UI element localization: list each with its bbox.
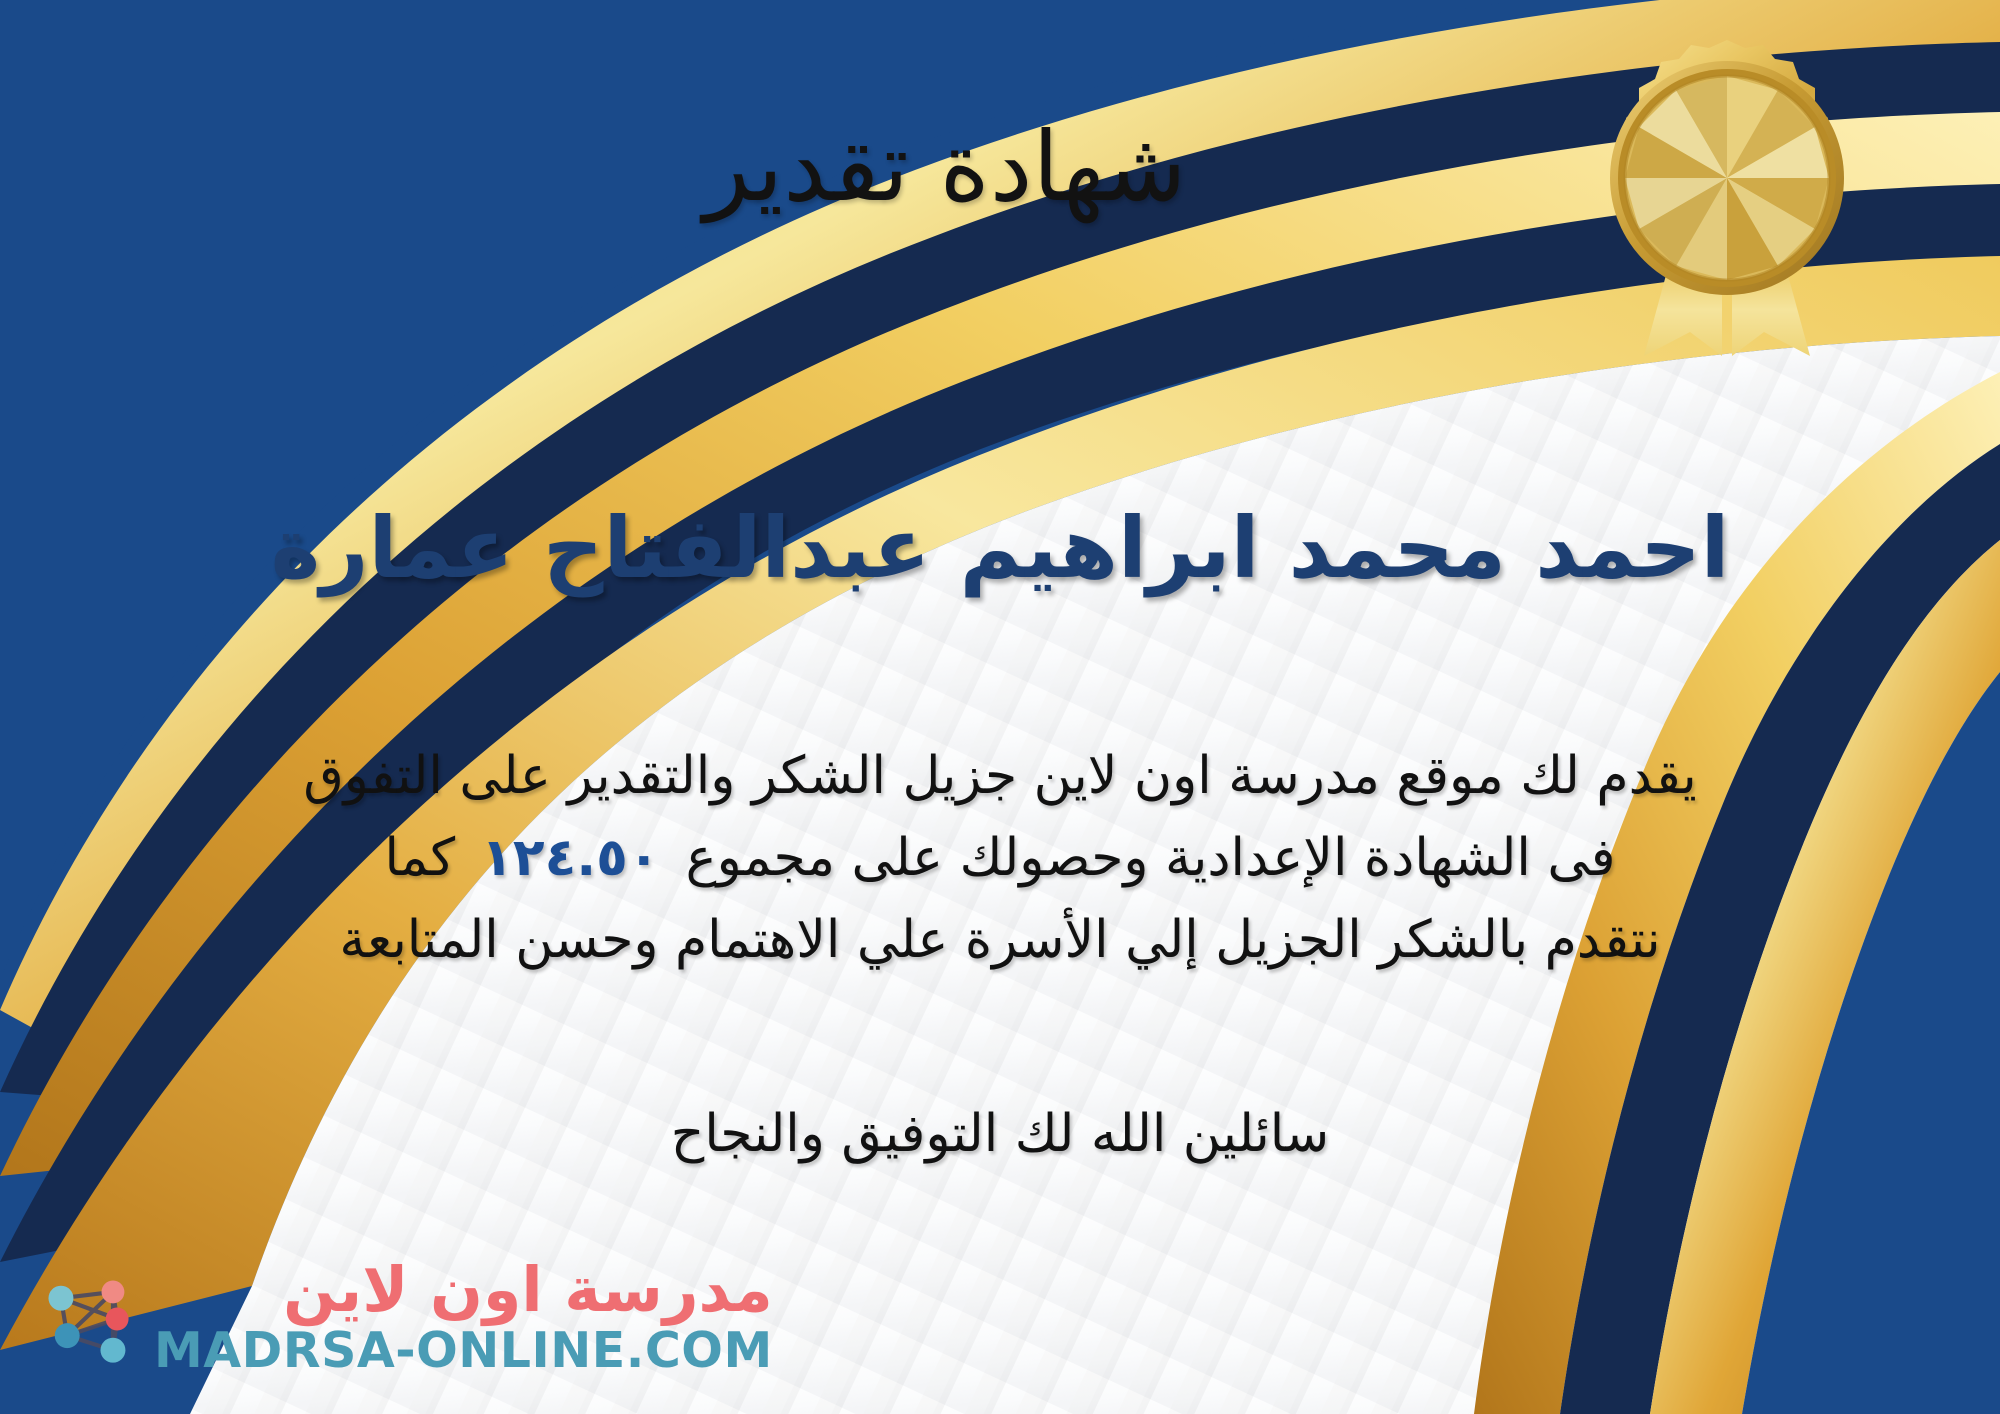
recipient-name: احمد محمد ابراهيم عبدالفتاح عمارة [0,498,2000,599]
node-teal-1 [48,1285,73,1310]
node-coral-1 [102,1280,125,1303]
certificate-body: يقدم لك موقع مدرسة اون لاين جزيل الشكر و… [55,735,1945,981]
body-line-3: نتقدم بالشكر الجزيل إلي الأسرة علي الاهت… [55,899,1945,981]
node-teal-2 [100,1337,125,1362]
network-nodes-icon [36,1267,140,1371]
node-blue-1 [55,1323,80,1348]
body-line-2: فى الشهادة الإعدادية وحصولك على مجموع١٢٤… [55,817,1945,899]
body-line-1: يقدم لك موقع مدرسة اون لاين جزيل الشكر و… [55,735,1945,817]
site-logo[interactable]: مدرسة اون لاين MADRSA-ONLINE.COM [36,1259,773,1378]
certificate-page: شهادة تقدير احمد محمد ابراهيم عبدالفتاح … [0,0,2000,1414]
logo-text: مدرسة اون لاين MADRSA-ONLINE.COM [154,1259,773,1378]
certificate-title: شهادة تقدير [0,112,2000,222]
logo-arabic-name: مدرسة اون لاين [283,1259,773,1321]
grade-total: ١٢٤.٥٠ [455,817,685,899]
body-line-2-prefix: فى الشهادة الإعدادية وحصولك على مجموع [686,828,1616,888]
closing-line: سائلين الله لك التوفيق والنجاح [0,1104,2000,1164]
logo-domain: MADRSA-ONLINE.COM [154,1325,773,1378]
body-line-2-suffix: كما [384,828,455,888]
node-red-1 [106,1307,129,1330]
